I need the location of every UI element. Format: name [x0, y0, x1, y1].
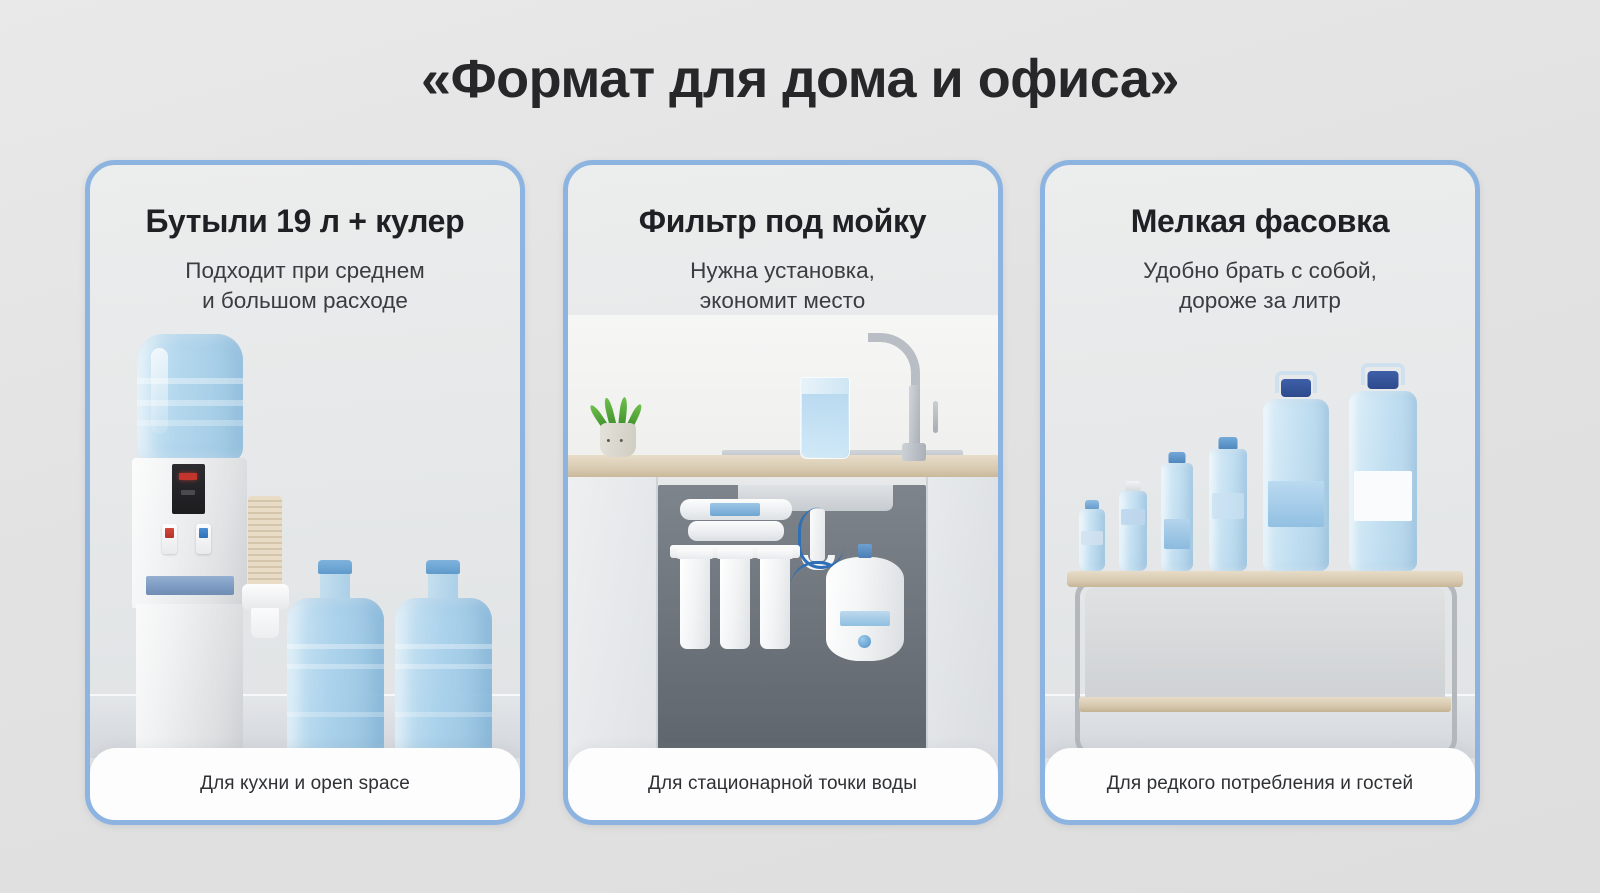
tank-valve: [858, 544, 872, 558]
shelf-back-panel: [1085, 587, 1445, 699]
plant-leaves-icon: [598, 393, 640, 427]
countertop: [568, 455, 998, 477]
bottle-cap: [1126, 481, 1141, 491]
card-subtitle-line2: дороже за литр: [1045, 286, 1475, 316]
card-header: Фильтр под мойку Нужна установка, эконом…: [568, 165, 998, 315]
bottle-lineup: [1067, 315, 1463, 571]
bottle-medium-icon: [1209, 449, 1247, 571]
filter-cartridge-icon: [760, 557, 790, 649]
card-title: Бутыли 19 л + кулер: [90, 205, 520, 239]
cooler-body-upper: [132, 458, 247, 608]
illustration-bottles-shelf: [1045, 315, 1475, 820]
water-cooler-icon: [132, 458, 247, 758]
storage-tank-icon: [826, 557, 904, 661]
format-cards-row: Бутыли 19 л + кулер Подходит при среднем…: [85, 160, 1480, 825]
bottle-19l-icon: [395, 598, 492, 758]
bottle-cap: [318, 560, 352, 574]
bottle-cap: [1169, 452, 1186, 463]
bottle-medium-icon: [1161, 463, 1193, 571]
card-footer: Для редкого потребления и гостей: [1045, 748, 1475, 820]
ro-membrane-housing-icon: [680, 499, 792, 520]
cold-water-tap-icon: [196, 524, 211, 554]
cooler-led-indicator: [179, 473, 197, 480]
single-cup-icon: [251, 608, 279, 638]
card-footer-label: Для кухни и open space: [200, 773, 410, 795]
tank-gauge: [858, 635, 871, 648]
bottle-label: [1212, 493, 1244, 519]
bottle-5l-icon: [1263, 399, 1329, 571]
membrane-label: [710, 503, 760, 516]
page-title: «Формат для дома и офиса»: [0, 0, 1600, 106]
bottle-label: [1121, 509, 1145, 525]
bottle-5l-icon: [1349, 391, 1417, 571]
pot-smiley-face: • •: [607, 435, 627, 447]
tank-label: [840, 611, 890, 626]
bottle-neck: [428, 572, 458, 598]
cooler-control-panel-icon: [172, 464, 205, 514]
faucet-lever: [933, 401, 938, 433]
faucet-base: [902, 443, 926, 461]
cooler-bottle-icon: [137, 334, 243, 462]
filter-tube-icon: [798, 507, 844, 569]
card-subtitle-line1: Удобно брать с собой,: [1045, 256, 1475, 286]
bottle-highlight: [151, 348, 168, 434]
card-small-format[interactable]: Мелкая фасовка Удобно брать с собой, дор…: [1040, 160, 1480, 825]
card-subtitle: Нужна установка, экономит место: [568, 256, 998, 316]
shelf-top-board: [1067, 571, 1463, 587]
filter-cartridge-icon: [680, 557, 710, 649]
shelf-bottom-board: [1079, 697, 1451, 712]
cooler-body-lower: [136, 604, 243, 758]
card-subtitle-line1: Нужна установка,: [568, 256, 998, 286]
kitchen-wall: • •: [568, 315, 998, 467]
card-footer-label: Для редкого потребления и гостей: [1107, 773, 1414, 795]
cabinet-interior: [658, 485, 926, 754]
bottle-cap: [1219, 437, 1238, 449]
card-under-sink-filter[interactable]: Фильтр под мойку Нужна установка, эконом…: [563, 160, 1003, 825]
card-subtitle: Удобно брать с собой, дороже за литр: [1045, 256, 1475, 316]
illustration-water-cooler: [90, 315, 520, 820]
card-bottles-cooler[interactable]: Бутыли 19 л + кулер Подходит при среднем…: [85, 160, 525, 825]
card-title: Фильтр под мойку: [568, 205, 998, 239]
bottle-cap: [1085, 500, 1099, 509]
bottle-label: [1081, 531, 1103, 545]
bottle-label: [1354, 471, 1411, 521]
bottle-small-icon: [1119, 491, 1147, 571]
card-subtitle-line2: и большом расходе: [90, 286, 520, 316]
bottle-neck: [320, 572, 350, 598]
bottle-label: [1164, 519, 1191, 549]
filter-cartridge-icon: [720, 557, 750, 649]
drip-tray: [146, 576, 234, 595]
card-footer: Для стационарной точки воды: [568, 748, 998, 820]
hot-water-tap-icon: [162, 524, 177, 554]
bottle-small-icon: [1079, 509, 1105, 571]
card-subtitle-line2: экономит место: [568, 286, 998, 316]
cooler-led-secondary: [181, 490, 195, 495]
card-footer-label: Для стационарной точки воды: [648, 773, 917, 795]
ro-membrane-housing-icon: [688, 521, 784, 541]
paper-cup-stack-icon: [248, 496, 282, 588]
cup-holder: [242, 584, 289, 610]
bottle-label: [1268, 481, 1323, 527]
card-subtitle-line1: Подходит при среднем: [90, 256, 520, 286]
water-glass-icon: [800, 377, 850, 459]
plant-pot-icon: • •: [600, 423, 636, 457]
bottle-cap: [1368, 371, 1399, 389]
bottle-cap: [1281, 379, 1311, 397]
card-header: Мелкая фасовка Удобно брать с собой, дор…: [1045, 165, 1475, 315]
card-subtitle: Подходит при среднем и большом расходе: [90, 256, 520, 316]
card-footer: Для кухни и open space: [90, 748, 520, 820]
card-title: Мелкая фасовка: [1045, 205, 1475, 239]
card-header: Бутыли 19 л + кулер Подходит при среднем…: [90, 165, 520, 315]
bottle-19l-icon: [287, 598, 384, 758]
bottle-cap: [426, 560, 460, 574]
illustration-under-sink-filter: • •: [568, 315, 998, 820]
